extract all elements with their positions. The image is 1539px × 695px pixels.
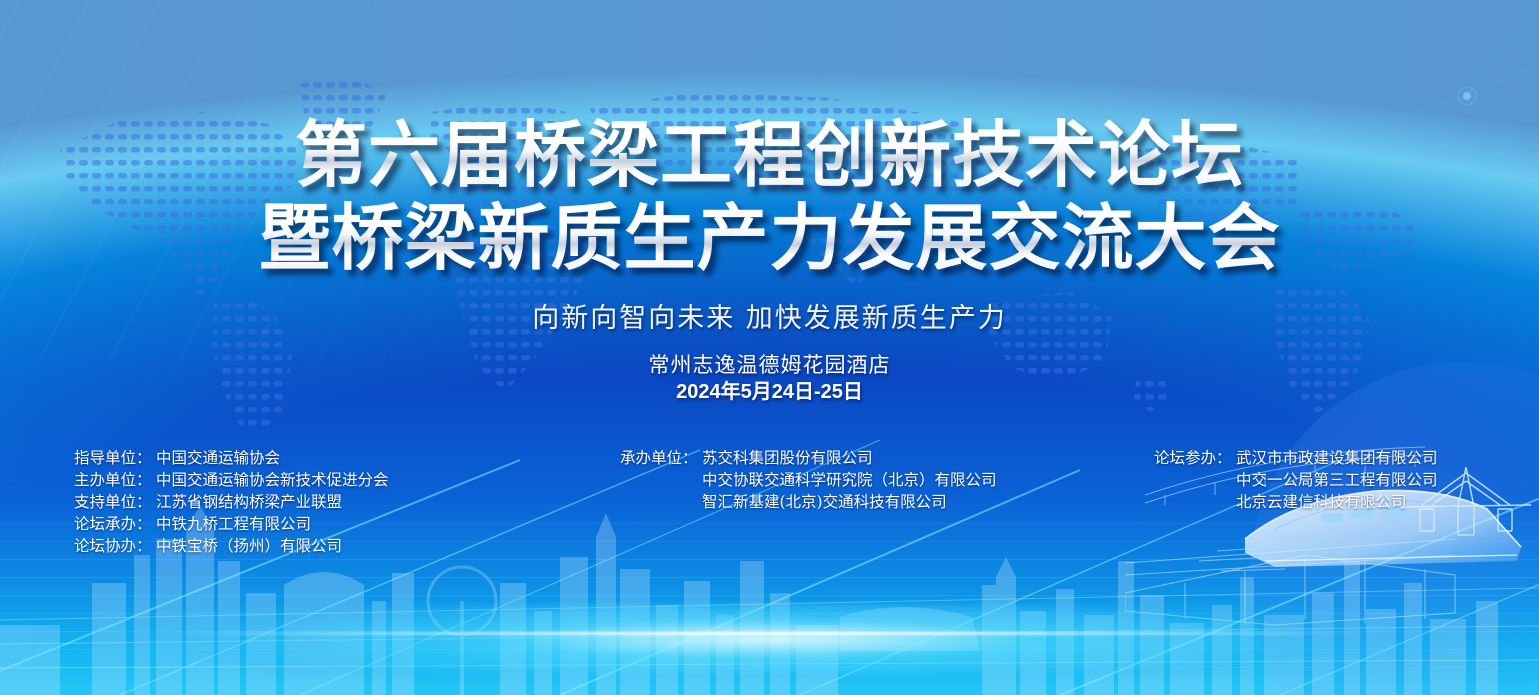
organizer-label: 支持单位： bbox=[74, 491, 156, 513]
organizer-column-left: 指导单位： 中国交通运输协会 主办单位： 中国交通运输协会新技术促进分会 支持单… bbox=[74, 447, 389, 557]
organizer-label: 论坛参办： bbox=[1154, 447, 1236, 469]
organizer-value: 北京云建信科技有限公司 bbox=[1236, 491, 1438, 513]
organizer-label: 论坛协办： bbox=[74, 535, 156, 557]
organizer-value: 武汉市市政建设集团有限公司 bbox=[1236, 447, 1438, 469]
organizer-column-middle: 承办单位： 苏交科集团股份有限公司 承办单位： 中交协联交通科学研究院（北京）有… bbox=[620, 447, 997, 513]
organizer-row: 论坛承办： 中铁九桥工程有限公司 bbox=[74, 513, 389, 535]
organizer-value: 江苏省钢结构桥梁产业联盟 bbox=[156, 491, 389, 513]
event-date: 2024年5月24日-25日 bbox=[0, 379, 1539, 406]
organizer-columns: 指导单位： 中国交通运输协会 主办单位： 中国交通运输协会新技术促进分会 支持单… bbox=[0, 447, 1539, 567]
organizer-row: 支持单位： 江苏省钢结构桥梁产业联盟 bbox=[74, 491, 389, 513]
organizer-label: 论坛承办： bbox=[74, 513, 156, 535]
organizer-label: 指导单位： bbox=[74, 447, 156, 469]
organizer-row: 论坛参办： 武汉市市政建设集团有限公司 bbox=[1154, 447, 1438, 469]
organizer-column-right: 论坛参办： 武汉市市政建设集团有限公司 论坛参办： 中交一公局第三工程有限公司 … bbox=[1154, 447, 1438, 513]
organizer-value: 中国交通运输协会 bbox=[156, 447, 389, 469]
venue-name: 常州志逸温德姆花园酒店 bbox=[0, 352, 1539, 379]
banner-subtitle: 向新向智向未来 加快发展新质生产力 bbox=[0, 296, 1539, 335]
organizer-row: 主办单位： 中国交通运输协会新技术促进分会 bbox=[74, 469, 389, 491]
organizer-row: 论坛参办： 北京云建信科技有限公司 bbox=[1154, 491, 1438, 513]
organizer-row: 论坛参办： 中交一公局第三工程有限公司 bbox=[1154, 469, 1438, 491]
title-line-2: 暨桥梁新质生产力发展交流大会 bbox=[0, 196, 1539, 279]
organizer-row: 承办单位： 智汇新基建(北京)交通科技有限公司 bbox=[620, 491, 997, 513]
organizer-value: 中交协联交通科学研究院（北京）有限公司 bbox=[702, 469, 997, 491]
organizer-row: 论坛协办： 中铁宝桥（扬州）有限公司 bbox=[74, 535, 389, 557]
banner-content: 第六届桥梁工程创新技术论坛 暨桥梁新质生产力发展交流大会 向新向智向未来 加快发… bbox=[0, 0, 1539, 695]
banner-title: 第六届桥梁工程创新技术论坛 暨桥梁新质生产力发展交流大会 bbox=[0, 113, 1539, 279]
organizer-value: 中交一公局第三工程有限公司 bbox=[1236, 469, 1438, 491]
organizer-value: 中国交通运输协会新技术促进分会 bbox=[156, 469, 389, 491]
organizer-value: 中铁宝桥（扬州）有限公司 bbox=[156, 535, 389, 557]
organizer-label: 主办单位： bbox=[74, 469, 156, 491]
organizer-row: 承办单位： 中交协联交通科学研究院（北京）有限公司 bbox=[620, 469, 997, 491]
organizer-value: 中铁九桥工程有限公司 bbox=[156, 513, 389, 535]
organizer-label: 承办单位： bbox=[620, 447, 702, 469]
conference-banner: 第六届桥梁工程创新技术论坛 暨桥梁新质生产力发展交流大会 向新向智向未来 加快发… bbox=[0, 0, 1539, 695]
title-line-1: 第六届桥梁工程创新技术论坛 bbox=[0, 113, 1539, 196]
organizer-row: 承办单位： 苏交科集团股份有限公司 bbox=[620, 447, 997, 469]
organizer-value: 智汇新基建(北京)交通科技有限公司 bbox=[702, 491, 997, 513]
organizer-row: 指导单位： 中国交通运输协会 bbox=[74, 447, 389, 469]
organizer-value: 苏交科集团股份有限公司 bbox=[702, 447, 997, 469]
venue-block: 常州志逸温德姆花园酒店 2024年5月24日-25日 bbox=[0, 352, 1539, 406]
